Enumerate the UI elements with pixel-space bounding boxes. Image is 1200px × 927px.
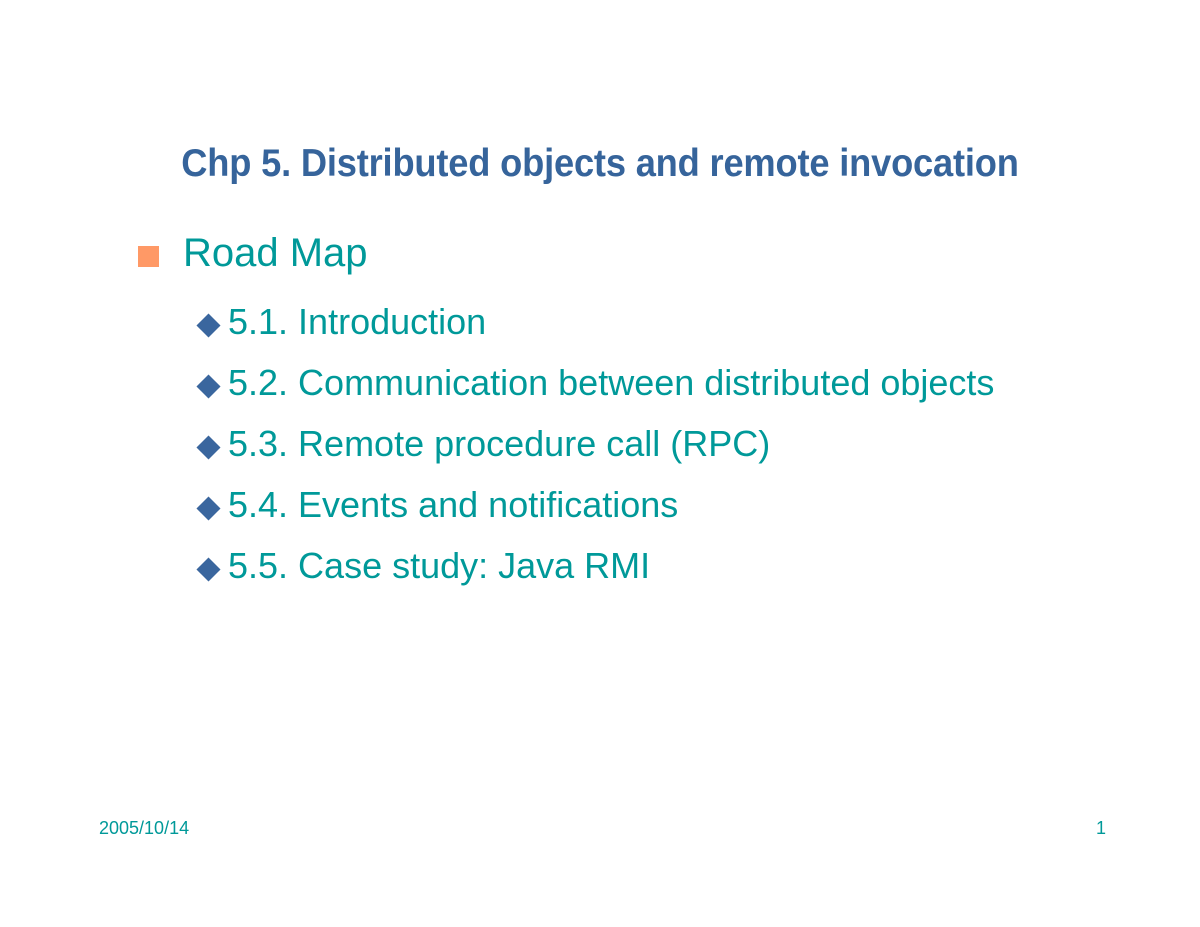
outline-heading-label: Road Map — [183, 225, 1200, 281]
outline-item-label: 5.4. Events and notifications — [228, 479, 1200, 531]
footer-page-number: 1 — [1096, 815, 1106, 841]
list-item: 5.5. Case study: Java RMI — [0, 540, 1200, 601]
list-item: 5.2. Communication between distributed o… — [0, 357, 1200, 418]
outline-item-label: 5.5. Case study: Java RMI — [228, 540, 1200, 592]
outline-item-label: 5.2. Communication between distributed o… — [228, 357, 1200, 409]
blue-diamond-bullet-icon — [196, 374, 222, 400]
outline-item-label: 5.3. Remote procedure call (RPC) — [228, 418, 1200, 470]
slide-footer: 2005/10/14 1 — [0, 815, 1200, 845]
list-item: 5.3. Remote procedure call (RPC) — [0, 418, 1200, 479]
list-item: 5.1. Introduction — [0, 296, 1200, 357]
slide-body: Road Map 5.1. Introduction 5.2. Communic… — [0, 225, 1200, 591]
orange-square-bullet-icon — [138, 246, 159, 267]
footer-date: 2005/10/14 — [99, 815, 189, 841]
slide-title: Chp 5. Distributed objects and remote in… — [42, 140, 1158, 188]
blue-diamond-bullet-icon — [196, 557, 222, 583]
outline-heading-row: Road Map — [0, 225, 1200, 286]
blue-diamond-bullet-icon — [196, 313, 222, 339]
blue-diamond-bullet-icon — [196, 435, 222, 461]
blue-diamond-bullet-icon — [196, 496, 222, 522]
list-item: 5.4. Events and notifications — [0, 479, 1200, 540]
presentation-slide: Chp 5. Distributed objects and remote in… — [0, 0, 1200, 927]
outline-items-list: 5.1. Introduction 5.2. Communication bet… — [0, 296, 1200, 601]
outline-item-label: 5.1. Introduction — [228, 296, 1200, 348]
